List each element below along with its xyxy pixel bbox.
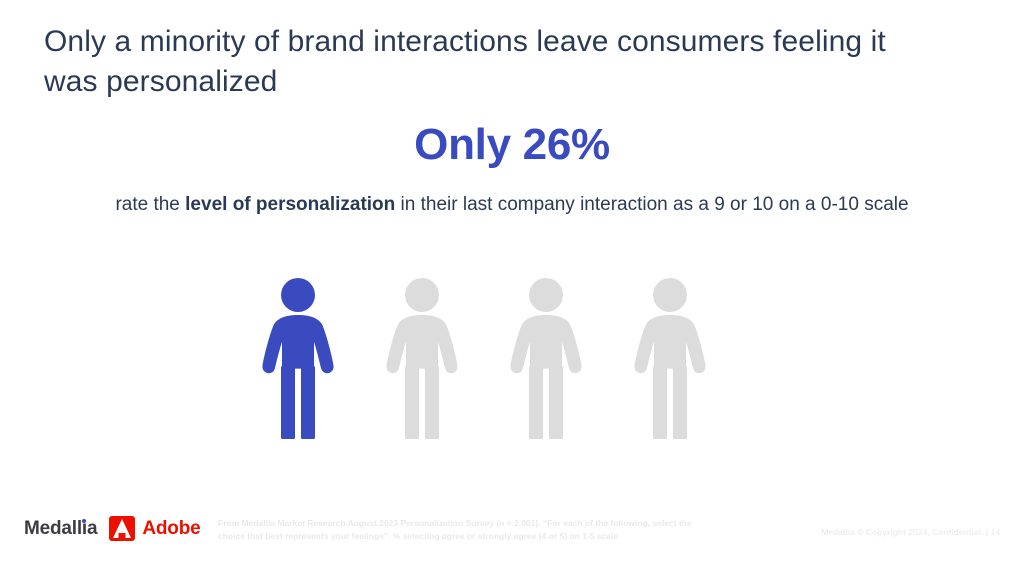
people-pictogram-row	[258, 277, 766, 442]
logo-group: Medallia Adobe	[24, 516, 200, 541]
stat-headline: Only 26%	[0, 117, 1024, 173]
person-muted-3-icon	[630, 277, 710, 442]
person-muted-2-icon	[506, 277, 586, 442]
stat-subtext-emphasis: level of personalization	[185, 194, 395, 215]
slide-footer: Medallia Adobe From Medallia Market Rese…	[0, 505, 1024, 567]
copyright-notice: Medallia © Copyright 2024, Confidential.…	[821, 526, 1000, 539]
medallia-logo: Medallia	[24, 518, 97, 540]
person-highlighted-icon	[258, 277, 338, 442]
adobe-a-mark-icon	[109, 516, 135, 541]
medallia-logo-text: Medallia	[24, 518, 97, 539]
adobe-logo-text: Adobe	[142, 518, 200, 540]
person-muted-1-icon	[382, 277, 462, 442]
slide-canvas: Only a minority of brand interactions le…	[0, 0, 1024, 587]
adobe-logo: Adobe	[109, 516, 200, 541]
source-note: From Medallia Market Research August 202…	[218, 517, 718, 543]
stat-subtext: rate the level of personalization in the…	[0, 190, 1024, 219]
page-title: Only a minority of brand interactions le…	[44, 22, 944, 102]
stat-subtext-part2: in their last company interaction as a 9…	[395, 194, 908, 215]
medallia-logo-dot	[82, 519, 86, 523]
stat-subtext-part1: rate the	[115, 194, 185, 215]
